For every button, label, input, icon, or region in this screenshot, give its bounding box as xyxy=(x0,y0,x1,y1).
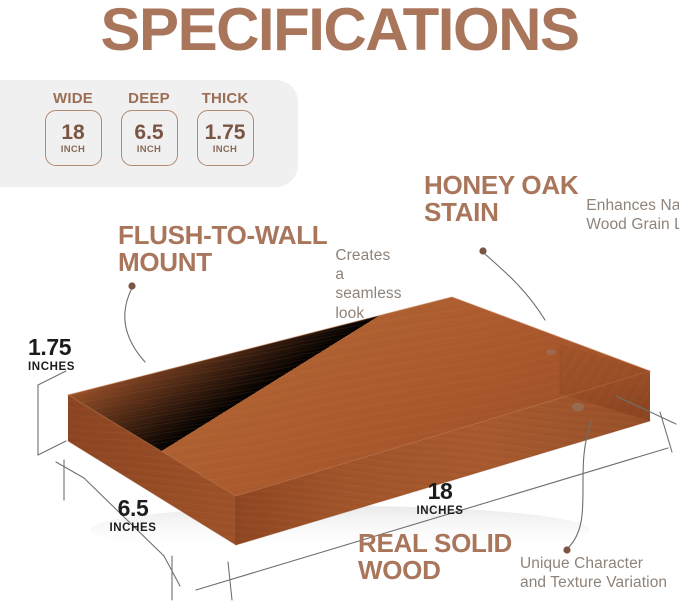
dimension-label-width: 18 INCHES xyxy=(414,480,466,517)
callout-description: Creates a seamless look xyxy=(335,246,401,323)
dimension-unit: INCHES xyxy=(103,522,163,534)
callout-real-solid-wood: REAL SOLID WOOD Unique Character and Tex… xyxy=(358,530,678,592)
dimension-label-depth: 6.5 INCHES xyxy=(103,497,163,534)
dimension-value: 18 xyxy=(414,480,466,503)
callout-heading: HONEY OAK STAIN xyxy=(424,172,578,225)
dimension-value: 1.75 xyxy=(28,336,75,359)
callout-honey-oak-stain: HONEY OAK STAIN Enhances Natural Wood Gr… xyxy=(424,172,679,234)
dimension-line-depth xyxy=(56,462,84,478)
callout-heading: FLUSH-TO-WALL MOUNT xyxy=(118,222,327,275)
dimension-value: 6.5 xyxy=(103,497,163,520)
callout-flush-to-wall-mount: FLUSH-TO-WALL MOUNT Creates a seamless l… xyxy=(118,222,398,323)
dimension-unit: INCHES xyxy=(414,505,466,517)
dimension-label-thickness: 1.75 INCHES xyxy=(28,336,75,373)
callout-heading: REAL SOLID WOOD xyxy=(358,530,512,583)
leader-line-honey xyxy=(484,253,545,320)
callout-description: Unique Character and Texture Variation xyxy=(520,554,667,592)
dimension-unit: INCHES xyxy=(28,361,75,373)
callout-description: Enhances Natural Wood Grain Look xyxy=(586,196,679,234)
leader-dot-honey xyxy=(479,247,486,254)
